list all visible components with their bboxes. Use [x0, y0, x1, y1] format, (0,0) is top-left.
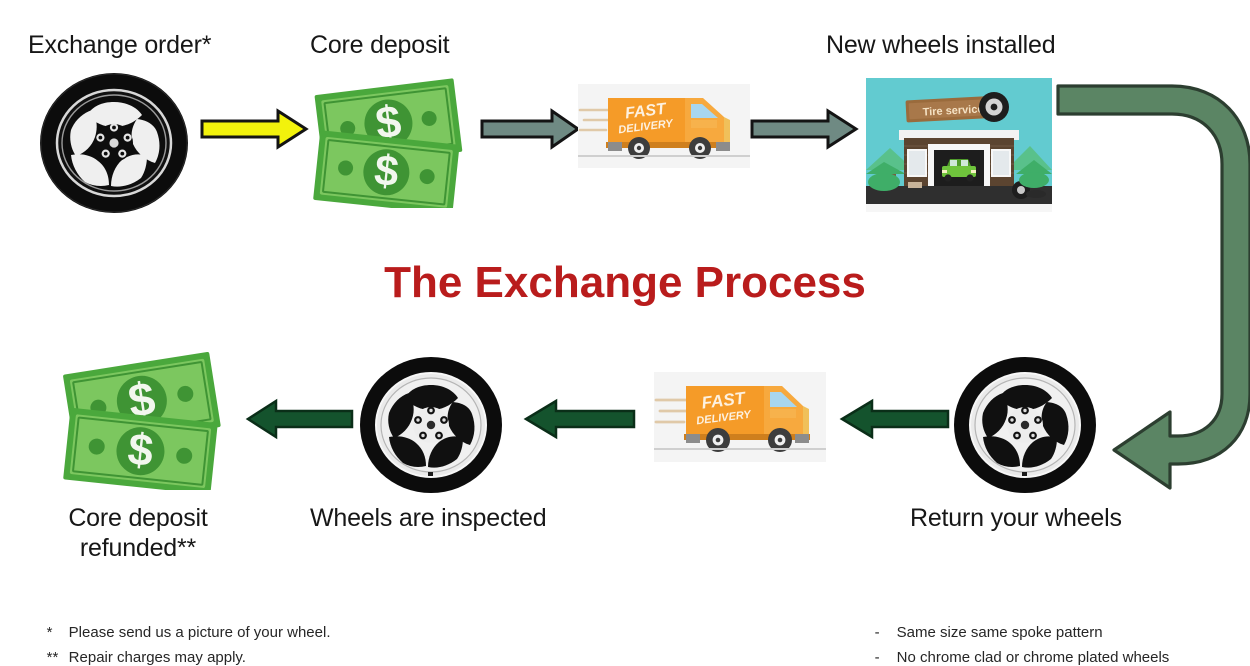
page-title: The Exchange Process: [0, 258, 1250, 308]
step-label-new-wheels-installed: New wheels installed: [826, 30, 1055, 60]
wheel-icon: [38, 72, 190, 214]
delivery-truck-icon: FAST DELIVERY: [578, 84, 750, 168]
arrow-inspected-to-refund: [246, 398, 354, 440]
money-icon-refund: $ $: [58, 352, 238, 490]
footnote-text: No chrome clad or chrome plated wheels: [897, 649, 1170, 666]
exchange-process-diagram: Exchange order* Core deposit New wheels …: [0, 0, 1250, 666]
arrow-shipping-back-to-inspected: [524, 398, 636, 440]
money-icon: $ $: [308, 76, 478, 208]
step-label-core-deposit: Core deposit: [310, 30, 449, 60]
step-label-core-deposit-refunded-line1: Core deposit: [28, 503, 248, 533]
wheel-icon-inspected: [358, 356, 504, 494]
arrow-return-to-shipping-back: [840, 398, 950, 440]
footnote-left-2: **Repair charges may apply.: [30, 620, 246, 666]
tire-service-shop-icon: Tire service: [866, 78, 1052, 212]
arrow-exchange-order-to-core-deposit: [200, 108, 308, 150]
delivery-truck-icon-return: FAST DELIVERY: [654, 372, 826, 462]
svg-text:$: $: [372, 146, 401, 196]
arrow-core-deposit-to-shipping: [480, 108, 580, 150]
step-label-return-your-wheels: Return your wheels: [910, 503, 1122, 533]
footnote-text: Repair charges may apply.: [69, 649, 246, 666]
step-label-core-deposit-refunded-line2: refunded**: [28, 533, 248, 563]
footnote-marker: **: [47, 645, 69, 666]
step-label-wheels-are-inspected: Wheels are inspected: [310, 503, 546, 533]
step-label-exchange-order: Exchange order*: [28, 30, 211, 60]
wheel-icon-return: [952, 356, 1098, 494]
footnote-right-2: -No chrome clad or chrome plated wheels: [858, 620, 1169, 666]
footnote-marker: -: [875, 645, 897, 666]
arrow-shipping-to-installed: [750, 108, 858, 150]
svg-text:$: $: [126, 423, 156, 476]
